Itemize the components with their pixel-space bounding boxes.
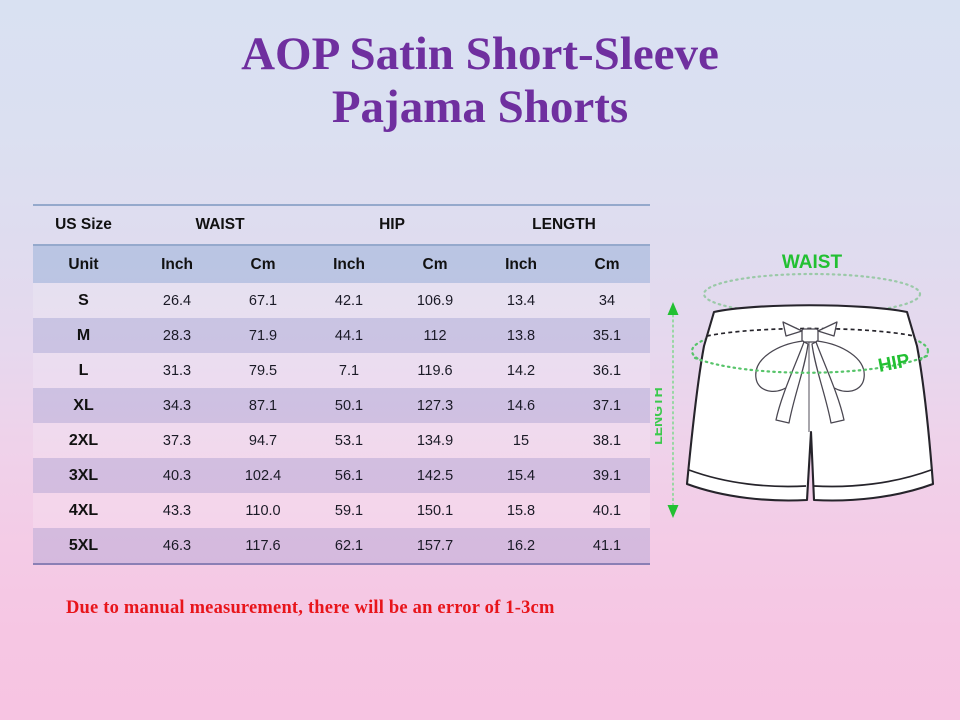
header-waist: WAIST (134, 205, 306, 245)
unit-length-cm: Cm (564, 245, 650, 283)
cell-waist-inch: 28.3 (134, 318, 220, 353)
cell-waist-cm: 67.1 (220, 283, 306, 318)
unit-label: Unit (33, 245, 134, 283)
cell-waist-inch: 37.3 (134, 423, 220, 458)
cell-hip-inch: 50.1 (306, 388, 392, 423)
cell-length-inch: 13.8 (478, 318, 564, 353)
size-table: US Size WAIST HIP LENGTH Unit Inch Cm In… (33, 204, 650, 565)
length-arrow-bottom (668, 505, 679, 518)
unit-length-inch: Inch (478, 245, 564, 283)
cell-waist-cm: 102.4 (220, 458, 306, 493)
page-title: AOP Satin Short-Sleeve Pajama Shorts (0, 28, 960, 133)
unit-waist-inch: Inch (134, 245, 220, 283)
cell-length-inch: 14.2 (478, 353, 564, 388)
cell-waist-cm: 117.6 (220, 528, 306, 564)
cell-hip-cm: 127.3 (392, 388, 478, 423)
cell-length-cm: 35.1 (564, 318, 650, 353)
cell-hip-inch: 53.1 (306, 423, 392, 458)
cell-hip-cm: 119.6 (392, 353, 478, 388)
cell-waist-cm: 71.9 (220, 318, 306, 353)
cell-waist-cm: 79.5 (220, 353, 306, 388)
header-length: LENGTH (478, 205, 650, 245)
page-title-line-1: AOP Satin Short-Sleeve (0, 28, 960, 81)
cell-size: 4XL (33, 493, 134, 528)
length-label: LENGTH (655, 387, 665, 445)
cell-hip-cm: 142.5 (392, 458, 478, 493)
cell-waist-inch: 34.3 (134, 388, 220, 423)
waist-label: WAIST (782, 252, 843, 273)
cell-size: 5XL (33, 528, 134, 564)
cell-length-inch: 15.4 (478, 458, 564, 493)
cell-hip-cm: 134.9 (392, 423, 478, 458)
cell-size: 2XL (33, 423, 134, 458)
drawstring-knot (802, 329, 818, 342)
table-row: XL 34.3 87.1 50.1 127.3 14.6 37.1 (33, 388, 650, 423)
table-row: 5XL 46.3 117.6 62.1 157.7 16.2 41.1 (33, 528, 650, 564)
cell-size: XL (33, 388, 134, 423)
size-table-container: US Size WAIST HIP LENGTH Unit Inch Cm In… (33, 204, 650, 565)
cell-size: 3XL (33, 458, 134, 493)
length-arrow-top (668, 302, 679, 315)
cell-hip-inch: 42.1 (306, 283, 392, 318)
cell-size: M (33, 318, 134, 353)
cell-waist-inch: 43.3 (134, 493, 220, 528)
cell-length-inch: 13.4 (478, 283, 564, 318)
cell-waist-cm: 87.1 (220, 388, 306, 423)
cell-length-cm: 36.1 (564, 353, 650, 388)
cell-length-inch: 15 (478, 423, 564, 458)
cell-hip-cm: 106.9 (392, 283, 478, 318)
shorts-diagram: WAIST HIP LENGTH (655, 246, 960, 536)
cell-waist-cm: 110.0 (220, 493, 306, 528)
unit-hip-inch: Inch (306, 245, 392, 283)
cell-length-inch: 14.6 (478, 388, 564, 423)
cell-hip-cm: 112 (392, 318, 478, 353)
cell-waist-inch: 46.3 (134, 528, 220, 564)
cell-hip-inch: 62.1 (306, 528, 392, 564)
table-row: 3XL 40.3 102.4 56.1 142.5 15.4 39.1 (33, 458, 650, 493)
cell-waist-inch: 40.3 (134, 458, 220, 493)
table-row: L 31.3 79.5 7.1 119.6 14.2 36.1 (33, 353, 650, 388)
cell-waist-inch: 26.4 (134, 283, 220, 318)
cell-hip-inch: 7.1 (306, 353, 392, 388)
cell-hip-inch: 56.1 (306, 458, 392, 493)
cell-length-inch: 16.2 (478, 528, 564, 564)
table-row: S 26.4 67.1 42.1 106.9 13.4 34 (33, 283, 650, 318)
cell-length-cm: 34 (564, 283, 650, 318)
table-row: 2XL 37.3 94.7 53.1 134.9 15 38.1 (33, 423, 650, 458)
unit-hip-cm: Cm (392, 245, 478, 283)
cell-hip-inch: 44.1 (306, 318, 392, 353)
cell-size: S (33, 283, 134, 318)
measurement-disclaimer: Due to manual measurement, there will be… (66, 598, 555, 619)
cell-waist-inch: 31.3 (134, 353, 220, 388)
cell-length-cm: 41.1 (564, 528, 650, 564)
header-us-size: US Size (33, 205, 134, 245)
cell-length-cm: 37.1 (564, 388, 650, 423)
size-chart-page: AOP Satin Short-Sleeve Pajama Shorts US … (0, 0, 960, 720)
cell-hip-inch: 59.1 (306, 493, 392, 528)
cell-hip-cm: 150.1 (392, 493, 478, 528)
cell-length-cm: 38.1 (564, 423, 650, 458)
cell-waist-cm: 94.7 (220, 423, 306, 458)
unit-waist-cm: Cm (220, 245, 306, 283)
table-row: M 28.3 71.9 44.1 112 13.8 35.1 (33, 318, 650, 353)
header-hip: HIP (306, 205, 478, 245)
page-title-line-2: Pajama Shorts (0, 81, 960, 134)
cell-length-inch: 15.8 (478, 493, 564, 528)
cell-hip-cm: 157.7 (392, 528, 478, 564)
table-row: 4XL 43.3 110.0 59.1 150.1 15.8 40.1 (33, 493, 650, 528)
table-unit-header-row: Unit Inch Cm Inch Cm Inch Cm (33, 245, 650, 283)
cell-size: L (33, 353, 134, 388)
table-group-header-row: US Size WAIST HIP LENGTH (33, 205, 650, 245)
cell-length-cm: 39.1 (564, 458, 650, 493)
cell-length-cm: 40.1 (564, 493, 650, 528)
